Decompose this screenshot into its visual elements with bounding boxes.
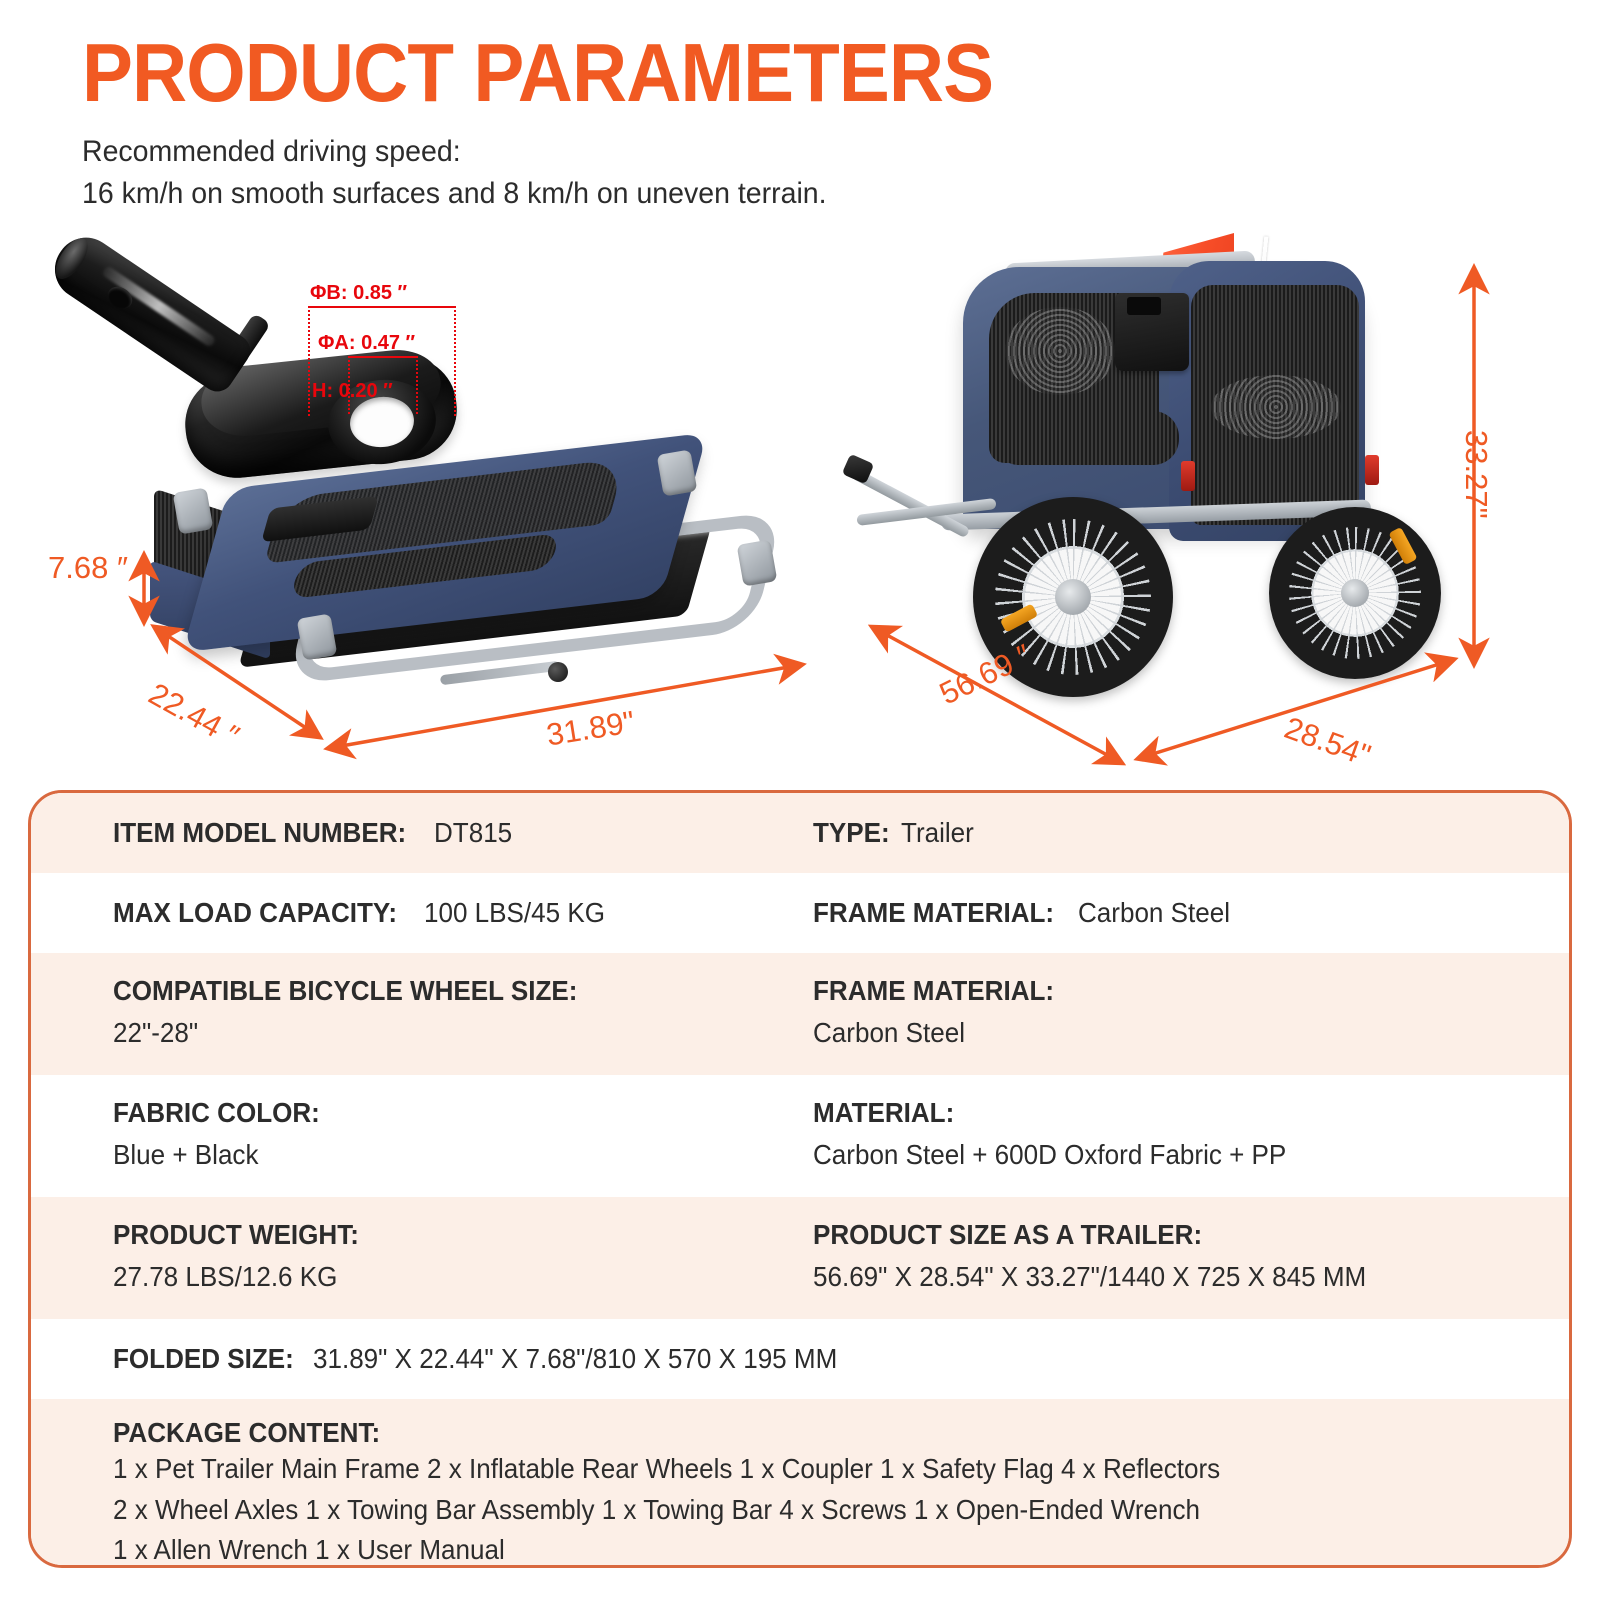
spec-value: Carbon Steel <box>813 1017 1464 1049</box>
table-row-folded-size: FOLDED SIZE:31.89" X 22.44" X 7.68"/810 … <box>31 1319 1569 1399</box>
package-content-label: PACKAGE CONTENT: <box>113 1417 380 1449</box>
table-cell-right: MATERIAL: Carbon Steel + 600D Oxford Fab… <box>813 1097 1513 1197</box>
trailer-pouch-tab <box>1127 297 1161 315</box>
spec-value: 22"-28" <box>113 1017 764 1049</box>
spec-label: MAX LOAD CAPACITY: <box>113 897 397 929</box>
header: PRODUCT PARAMETERS Recommended driving s… <box>82 34 1082 216</box>
table-row-package-content: PACKAGE CONTENT: 1 x Pet Trailer Main Fr… <box>31 1399 1569 1568</box>
package-content-line: 2 x Wheel Axles 1 x Towing Bar Assembly … <box>113 1490 1415 1531</box>
table-row: COMPATIBLE BICYCLE WHEEL SIZE: 22"-28" F… <box>31 953 1569 1075</box>
spec-label: FRAME MATERIAL: <box>813 975 1054 1007</box>
red-guide-right <box>454 306 456 416</box>
table-cell-right: PRODUCT SIZE AS A TRAILER: 56.69" X 28.5… <box>813 1219 1513 1319</box>
subtitle-block: Recommended driving speed: 16 km/h on sm… <box>82 131 1082 216</box>
red-guide-left <box>308 306 310 416</box>
spec-value: DT815 <box>434 817 512 849</box>
red-guide-phib <box>308 306 456 308</box>
table-row: MAX LOAD CAPACITY:100 LBS/45 KG FRAME MA… <box>31 873 1569 953</box>
folded-hinge-bracket <box>737 539 778 586</box>
spec-value: Trailer <box>901 817 974 849</box>
table-row: FABRIC COLOR: Blue + Black MATERIAL: Car… <box>31 1075 1569 1197</box>
red-guide-inner-right <box>416 356 418 414</box>
spec-value: 100 LBS/45 KG <box>424 897 605 929</box>
product-image-stage: ΦB: 0.85 ″ ΦA: 0.47 ″ H: 0.20 ″ <box>0 215 1600 780</box>
table-cell-right: FRAME MATERIAL: Carbon Steel <box>813 975 1513 1075</box>
folded-hinge-bracket <box>173 487 214 534</box>
spec-value: Carbon Steel <box>1078 897 1230 929</box>
mesh-sheen <box>1005 307 1115 395</box>
package-content-line: 1 x Allen Wrench 1 x User Manual <box>113 1530 1415 1568</box>
spec-label: COMPATIBLE BICYCLE WHEEL SIZE: <box>113 975 577 1007</box>
spec-label: PRODUCT SIZE AS A TRAILER: <box>813 1219 1202 1251</box>
folded-trailer-figure <box>140 430 820 750</box>
table-cell-right: FRAME MATERIAL:Carbon Steel <box>813 897 1513 929</box>
red-guide-phia <box>348 356 418 358</box>
spec-value: 56.69" X 28.54" X 33.27"/1440 X 725 X 84… <box>813 1261 1464 1293</box>
table-row: ITEM MODEL NUMBER:DT815 TYPE:Trailer <box>31 793 1569 873</box>
mesh-sheen <box>1211 375 1341 439</box>
trailer-wheel-hub-front <box>1055 579 1091 615</box>
dim-label-folded-height: 7.68 ″ <box>48 550 128 586</box>
spec-label: MATERIAL: <box>813 1097 954 1129</box>
folded-hinge-bracket <box>657 449 698 496</box>
spec-value: Carbon Steel + 600D Oxford Fabric + PP <box>813 1139 1464 1171</box>
table-cell-full: FOLDED SIZE:31.89" X 22.44" X 7.68"/810 … <box>113 1343 1513 1375</box>
folded-axle-knob <box>548 662 568 682</box>
table-cell-right: TYPE:Trailer <box>813 817 1513 849</box>
folded-hinge-bracket <box>297 613 338 660</box>
trailer-wheel-hub-rear <box>1341 579 1369 607</box>
dim-label-h: H: 0.20 ″ <box>312 380 393 403</box>
table-cell-left: COMPATIBLE BICYCLE WHEEL SIZE: 22"-28" <box>113 975 813 1075</box>
coupler-shaft <box>43 226 256 398</box>
spec-label: FOLDED SIZE: <box>113 1343 294 1375</box>
page-title: PRODUCT PARAMETERS <box>82 34 1002 113</box>
spec-value: 27.78 LBS/12.6 KG <box>113 1261 764 1293</box>
reflector-red <box>1181 461 1195 491</box>
subtitle-line-1: Recommended driving speed: <box>82 131 1032 174</box>
table-cell-full: PACKAGE CONTENT: 1 x Pet Trailer Main Fr… <box>113 1417 1513 1568</box>
table-cell-left: PRODUCT WEIGHT: 27.78 LBS/12.6 KG <box>113 1219 813 1319</box>
spec-label: TYPE: <box>813 817 890 849</box>
spec-label: FABRIC COLOR: <box>113 1097 320 1129</box>
table-row: PRODUCT WEIGHT: 27.78 LBS/12.6 KG PRODUC… <box>31 1197 1569 1319</box>
dim-label-trailer-height: 33.27" <box>1458 430 1494 519</box>
table-cell-left: ITEM MODEL NUMBER:DT815 <box>113 817 813 849</box>
table-cell-left: FABRIC COLOR: Blue + Black <box>113 1097 813 1197</box>
spec-value: Blue + Black <box>113 1139 764 1171</box>
spec-label: ITEM MODEL NUMBER: <box>113 817 406 849</box>
table-cell-left: MAX LOAD CAPACITY:100 LBS/45 KG <box>113 897 813 929</box>
assembled-trailer-figure <box>845 215 1485 705</box>
reflector-red <box>1365 455 1379 485</box>
spec-label: FRAME MATERIAL: <box>813 897 1054 929</box>
subtitle-line-2: 16 km/h on smooth surfaces and 8 km/h on… <box>82 173 1032 216</box>
package-content-line: 1 x Pet Trailer Main Frame 2 x Inflatabl… <box>113 1449 1415 1490</box>
spec-value: 31.89" X 22.44" X 7.68"/810 X 570 X 195 … <box>313 1343 837 1375</box>
dim-label-phi-a: ΦA: 0.47 ″ <box>318 332 415 355</box>
coupler-shaft-cap <box>49 233 94 284</box>
dim-label-phi-b: ΦB: 0.85 ″ <box>310 282 407 305</box>
spec-label: PRODUCT WEIGHT: <box>113 1219 359 1251</box>
specification-table: ITEM MODEL NUMBER:DT815 TYPE:Trailer MAX… <box>28 790 1572 1568</box>
trailer-mesh-window-front-lower <box>993 411 1179 465</box>
